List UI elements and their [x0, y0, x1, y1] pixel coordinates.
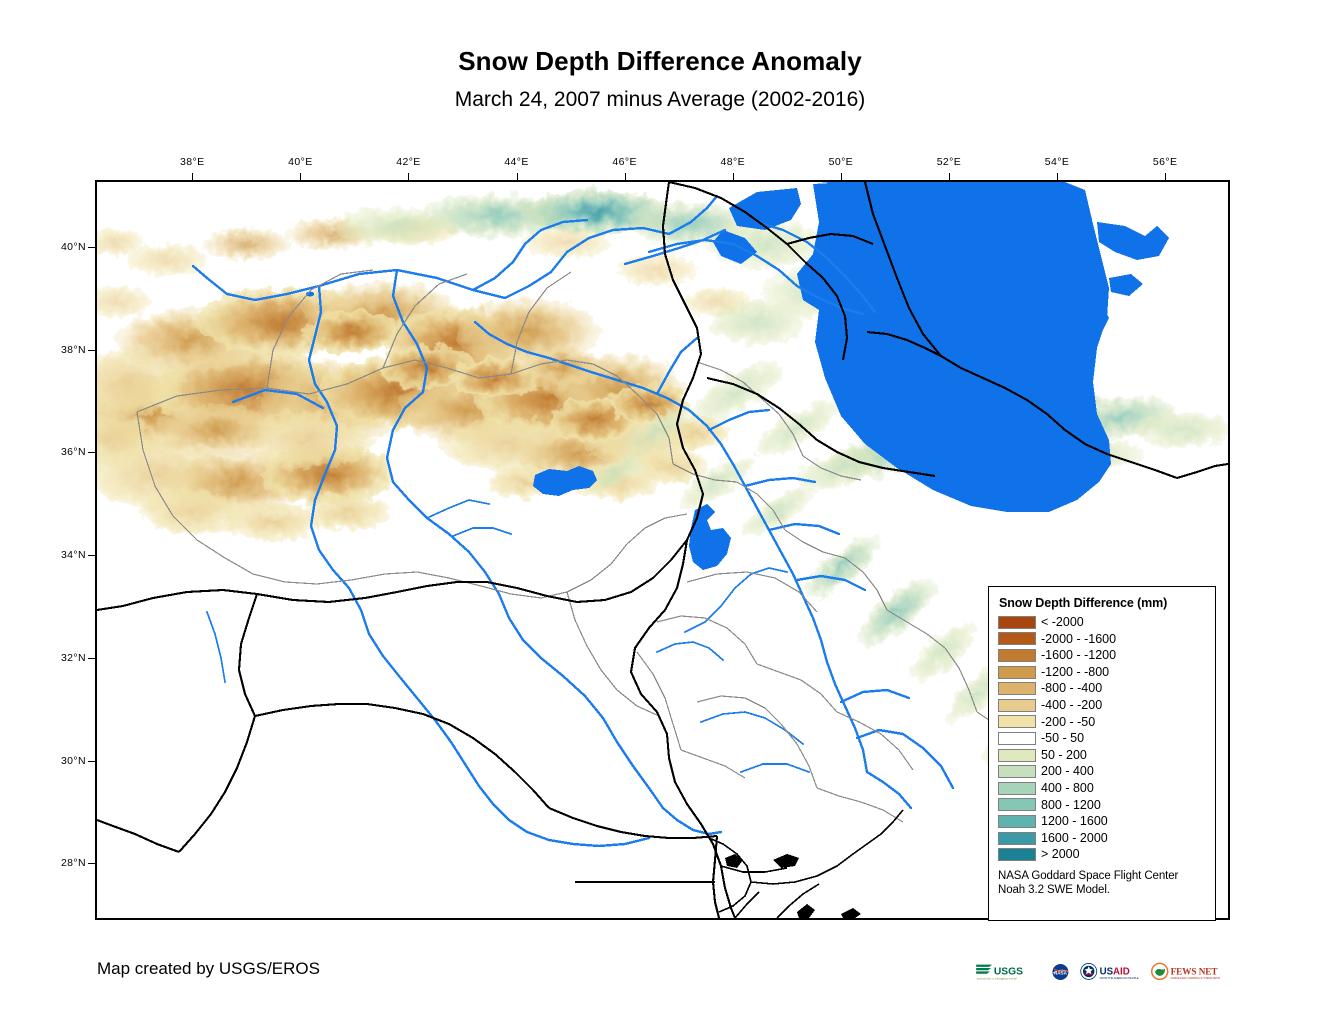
legend-row: 800 - 1200 — [998, 797, 1206, 814]
legend-swatch — [998, 682, 1036, 695]
legend-swatch — [998, 616, 1036, 629]
legend-source-line1: NASA Goddard Space Flight Center — [998, 869, 1206, 883]
legend-label: < -2000 — [1041, 616, 1084, 629]
legend-swatch — [998, 699, 1036, 712]
lon-tick-label: 44°E — [504, 156, 528, 168]
legend-label: 200 - 400 — [1041, 765, 1094, 778]
legend-swatch — [998, 649, 1036, 662]
fewsnet-logo[interactable]: FEWS NET FAMINE EARLY WARNING SYSTEMS NE… — [1150, 955, 1220, 989]
map-legend: Snow Depth Difference (mm) < -2000-2000 … — [988, 586, 1216, 921]
svg-text:USGS: USGS — [994, 966, 1023, 977]
legend-swatch — [998, 765, 1036, 778]
legend-row: > 2000 — [998, 846, 1206, 863]
legend-source: NASA Goddard Space Flight Center Noah 3.… — [998, 869, 1206, 898]
lat-tick — [88, 863, 95, 864]
lat-tick-label: 38°N — [61, 344, 86, 356]
legend-label: 1200 - 1600 — [1041, 815, 1108, 828]
legend-label: -2000 - -1600 — [1041, 633, 1116, 646]
legend-label: -1600 - -1200 — [1041, 649, 1116, 662]
legend-swatch — [998, 832, 1036, 845]
legend-row: -2000 - -1600 — [998, 631, 1206, 648]
legend-label: -800 - -400 — [1041, 682, 1102, 695]
legend-label: 50 - 200 — [1041, 749, 1087, 762]
lon-tick-label: 48°E — [721, 156, 745, 168]
lat-tick — [88, 452, 95, 453]
legend-label: -200 - -50 — [1041, 716, 1095, 729]
svg-text:USAID: USAID — [1100, 966, 1130, 977]
lon-tick — [408, 173, 409, 180]
lon-tick — [300, 173, 301, 180]
legend-row: < -2000 — [998, 614, 1206, 631]
legend-row: -50 - 50 — [998, 730, 1206, 747]
legend-source-line2: Noah 3.2 SWE Model. — [998, 883, 1206, 897]
legend-label: -400 - -200 — [1041, 699, 1102, 712]
lat-tick — [88, 247, 95, 248]
legend-label: > 2000 — [1041, 848, 1080, 861]
lat-tick — [88, 761, 95, 762]
usaid-logo[interactable]: USAID FROM THE AMERICAN PEOPLE — [1079, 955, 1143, 989]
lat-tick — [88, 350, 95, 351]
lon-tick-label: 52°E — [937, 156, 961, 168]
legend-swatch — [998, 749, 1036, 762]
legend-label: -50 - 50 — [1041, 732, 1084, 745]
lon-tick-label: 46°E — [612, 156, 636, 168]
legend-swatch — [998, 782, 1036, 795]
legend-label: 1600 - 2000 — [1041, 832, 1108, 845]
legend-swatch — [998, 848, 1036, 861]
lon-tick — [517, 173, 518, 180]
lat-tick — [88, 658, 95, 659]
legend-label: 800 - 1200 — [1041, 799, 1101, 812]
legend-row: -400 - -200 — [998, 697, 1206, 714]
legend-row: -200 - -50 — [998, 714, 1206, 731]
lon-tick-label: 42°E — [396, 156, 420, 168]
legend-label: -1200 - -800 — [1041, 666, 1109, 679]
legend-swatch — [998, 815, 1036, 828]
legend-row: 1600 - 2000 — [998, 830, 1206, 847]
lon-tick-label: 50°E — [829, 156, 853, 168]
legend-class-list: < -2000-2000 - -1600-1600 - -1200-1200 -… — [998, 614, 1206, 863]
map-credit: Map created by USGS/EROS — [97, 959, 320, 979]
lat-tick-label: 34°N — [61, 549, 86, 561]
map-page: Snow Depth Difference Anomaly March 24, … — [0, 0, 1320, 1020]
svg-text:science for a changing world: science for a changing world — [977, 976, 1017, 980]
legend-row: 200 - 400 — [998, 763, 1206, 780]
legend-row: -800 - -400 — [998, 680, 1206, 697]
legend-swatch — [998, 666, 1036, 679]
legend-row: 50 - 200 — [998, 747, 1206, 764]
page-title: Snow Depth Difference Anomaly — [0, 46, 1320, 77]
lon-tick — [1057, 173, 1058, 180]
lon-tick-label: 56°E — [1153, 156, 1177, 168]
lat-tick — [88, 555, 95, 556]
svg-text:FROM THE AMERICAN PEOPLE: FROM THE AMERICAN PEOPLE — [1100, 976, 1139, 980]
lon-tick-label: 38°E — [180, 156, 204, 168]
lat-tick-label: 28°N — [61, 857, 86, 869]
legend-row: -1600 - -1200 — [998, 647, 1206, 664]
lon-tick-label: 54°E — [1045, 156, 1069, 168]
lon-tick-label: 40°E — [288, 156, 312, 168]
lon-tick — [841, 173, 842, 180]
legend-row: -1200 - -800 — [998, 664, 1206, 681]
legend-row: 400 - 800 — [998, 780, 1206, 797]
legend-label: 400 - 800 — [1041, 782, 1094, 795]
svg-text:NASA: NASA — [1054, 970, 1068, 975]
legend-swatch — [998, 632, 1036, 645]
nasa-logo[interactable]: NASA — [1049, 955, 1072, 989]
lon-tick — [625, 173, 626, 180]
usgs-logo[interactable]: USGS science for a changing world — [975, 955, 1042, 989]
page-subtitle: March 24, 2007 minus Average (2002-2016) — [0, 88, 1320, 112]
legend-swatch — [998, 715, 1036, 728]
lon-tick — [192, 173, 193, 180]
legend-row: 1200 - 1600 — [998, 813, 1206, 830]
legend-swatch — [998, 732, 1036, 745]
lon-tick — [733, 173, 734, 180]
lat-tick-label: 40°N — [61, 241, 86, 253]
lon-tick — [1165, 173, 1166, 180]
legend-title: Snow Depth Difference (mm) — [999, 596, 1206, 610]
legend-swatch — [998, 798, 1036, 811]
lon-tick — [949, 173, 950, 180]
agency-logos: USGS science for a changing world NASA U… — [975, 952, 1220, 992]
lat-tick-label: 36°N — [61, 446, 86, 458]
lat-tick-label: 32°N — [61, 652, 86, 664]
svg-text:FEWS NET: FEWS NET — [1171, 966, 1218, 976]
svg-text:FAMINE EARLY WARNING SYSTEMS N: FAMINE EARLY WARNING SYSTEMS NETWORK — [1171, 977, 1220, 980]
lat-tick-label: 30°N — [61, 755, 86, 767]
